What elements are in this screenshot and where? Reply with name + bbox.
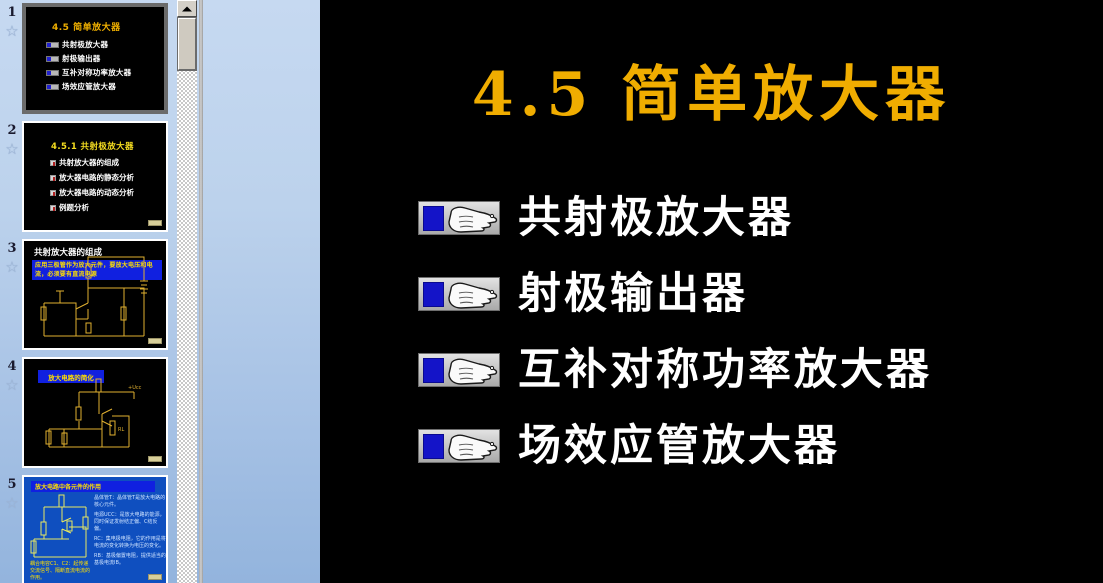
thumbnail-frame-2[interactable]: 4.5.1 共射极放大器 共射放大器的组成 放大器电路的静态分析 放大器电路的动… xyxy=(22,121,168,232)
thumbnail-pane-scrollbar[interactable] xyxy=(177,0,197,583)
thumb5-left-note: 耦合电容C1、C2：起传递交流信号、隔断直流电流的作用。 xyxy=(30,561,90,582)
slide-thumbnail-pane[interactable]: 1 ☆ 4.5 简单放大器 共射极放大器 射极输出器 互补对称功率放大器 场效应… xyxy=(0,0,320,583)
slide-number-2: 2 xyxy=(3,124,21,137)
bullet-label: 互补对称功率放大器 xyxy=(518,349,932,392)
pointing-hand-icon xyxy=(418,429,500,463)
thumb5-notes: 晶体管T：晶体管T是放大电路的核心元件。 电源UCC：是放大电路的能源，同时保证… xyxy=(94,495,166,570)
thumb5-banner-text: 放大电路中各元件的作用 xyxy=(35,482,101,491)
thumb4-banner-text: 放大电路的简化 xyxy=(48,372,94,382)
pointing-hand-icon xyxy=(46,56,59,62)
presentation-window: 1 ☆ 4.5 简单放大器 共射极放大器 射极输出器 互补对称功率放大器 场效应… xyxy=(0,0,1103,583)
pointing-hand-icon xyxy=(46,70,59,76)
square-bullet-icon xyxy=(50,205,56,211)
scroll-up-button[interactable] xyxy=(177,0,197,17)
pointing-hand-icon xyxy=(46,42,59,48)
pointing-hand-icon xyxy=(418,353,500,387)
note-line: 耦合电容C1、C2：起传递交流信号、隔断直流电流的作用。 xyxy=(30,561,90,582)
bullet-label: 共射极放大器 xyxy=(518,197,794,240)
chevron-up-icon xyxy=(182,6,192,11)
blue-square-glyph xyxy=(423,206,444,231)
star-icon: ☆ xyxy=(2,258,22,276)
thumbnail-item-3[interactable]: 3 ☆ 共射放大器的组成 应用三极管作为放大元件，要放大电压和电流，必须要有直流… xyxy=(0,236,172,354)
thumbnail-frame-5[interactable]: 放大电路中各元件的作用 xyxy=(22,475,168,583)
pointing-hand-icon xyxy=(46,84,59,90)
thumbnail-frame-3[interactable]: 共射放大器的组成 应用三极管作为放大元件，要放大电压和电流，必须要有直流电源 xyxy=(22,239,168,350)
thumbnail-item-5[interactable]: 5 ☆ 放大电路中各元件的作用 xyxy=(0,472,172,583)
square-bullet-icon xyxy=(50,190,56,196)
thumbnail-frame-1[interactable]: 4.5 简单放大器 共射极放大器 射极输出器 互补对称功率放大器 场效应管放大器 xyxy=(22,3,168,114)
thumbnail-canvas-4: 放大电路的简化 +Ucc xyxy=(24,359,166,466)
thumb2-bullet-label: 放大器电路的静态分析 xyxy=(59,172,134,183)
thumbnail-canvas-3: 共射放大器的组成 应用三极管作为放大元件，要放大电压和电流，必须要有直流电源 xyxy=(24,241,166,348)
scrollbar-track[interactable] xyxy=(177,0,197,583)
navigation-badge xyxy=(148,338,162,344)
star-icon: ☆ xyxy=(2,494,22,512)
thumb1-bullet-label: 场效应管放大器 xyxy=(62,81,116,92)
thumb3-title: 共射放大器的组成 xyxy=(34,246,102,258)
thumb5-banner: 放大电路中各元件的作用 xyxy=(31,481,155,492)
thumb4-banner: 放大电路的简化 xyxy=(38,370,104,383)
thumbnail-item-2[interactable]: 2 ☆ 4.5.1 共射极放大器 共射放大器的组成 放大器电路的静态分析 放大器… xyxy=(0,118,172,236)
note-line: RC：集电极电阻，它的作用是将电流的变化转换为电压的变化。 xyxy=(94,536,166,550)
square-bullet-icon xyxy=(50,160,56,166)
note-line: RB：基极偏置电阻，提供适当的基极电流IB。 xyxy=(94,553,166,567)
slide-number-1: 1 xyxy=(3,6,21,19)
bullet-label: 射极输出器 xyxy=(518,273,748,316)
navigation-badge xyxy=(148,574,162,580)
thumb2-bullet-label: 例题分析 xyxy=(59,202,89,213)
slide-title: 4.5 简单放大器 xyxy=(320,46,1103,133)
note-line: 电源UCC：是放大电路的能源，同时保证发射结正偏、C结反偏。 xyxy=(94,512,166,533)
bullet-row-2[interactable]: 射极输出器 xyxy=(418,266,1098,322)
thumb2-bullets: 共射放大器的组成 放大器电路的静态分析 放大器电路的动态分析 例题分析 xyxy=(50,157,134,217)
thumb1-bullet-label: 射极输出器 xyxy=(62,53,101,64)
list-item: 放大器电路的静态分析 xyxy=(50,172,134,183)
thumb3-banner-text: 应用三极管作为放大元件，要放大电压和电流，必须要有直流电源 xyxy=(35,261,159,279)
thumbnail-canvas-5: 放大电路中各元件的作用 xyxy=(24,477,166,583)
list-item: 放大器电路的动态分析 xyxy=(50,187,134,198)
list-item: 射极输出器 xyxy=(46,53,131,64)
navigation-badge xyxy=(148,456,162,462)
thumb3-banner: 应用三极管作为放大元件，要放大电压和电流，必须要有直流电源 xyxy=(32,260,162,280)
star-icon: ☆ xyxy=(2,140,22,158)
svg-text:RL: RL xyxy=(118,427,124,433)
slide-canvas[interactable]: 4.5 简单放大器 共射极放大器 xyxy=(320,0,1103,583)
bullet-row-3[interactable]: 互补对称功率放大器 xyxy=(418,342,1098,398)
thumbnail-canvas-1: 4.5 简单放大器 共射极放大器 射极输出器 互补对称功率放大器 场效应管放大器 xyxy=(26,7,164,110)
bullet-row-1[interactable]: 共射极放大器 xyxy=(418,190,1098,246)
thumb1-title: 4.5 简单放大器 xyxy=(52,20,121,33)
pointing-hand-icon xyxy=(418,201,500,235)
scrollbar-thumb[interactable] xyxy=(178,18,196,70)
note-line: 晶体管T：晶体管T是放大电路的核心元件。 xyxy=(94,495,166,509)
thumbnail-item-4[interactable]: 4 ☆ 放大电路的简化 xyxy=(0,354,172,472)
slide-number-5: 5 xyxy=(3,478,21,491)
list-item: 互补对称功率放大器 xyxy=(46,67,131,78)
navigation-badge xyxy=(148,220,162,226)
list-item: 共射放大器的组成 xyxy=(50,157,134,168)
list-item: 场效应管放大器 xyxy=(46,81,131,92)
slide-number-3: 3 xyxy=(3,242,21,255)
bullet-label: 场效应管放大器 xyxy=(518,425,840,468)
slide-bullet-list: 共射极放大器 射极输出器 xyxy=(418,190,1098,494)
thumb2-title: 4.5.1 共射极放大器 xyxy=(51,140,134,152)
blue-square-glyph xyxy=(423,434,444,459)
thumb1-bullet-label: 互补对称功率放大器 xyxy=(62,67,131,78)
thumbnail-item-1[interactable]: 1 ☆ 4.5 简单放大器 共射极放大器 射极输出器 互补对称功率放大器 场效应… xyxy=(0,0,172,118)
thumb1-bullet-label: 共射极放大器 xyxy=(62,39,108,50)
thumb1-bullets: 共射极放大器 射极输出器 互补对称功率放大器 场效应管放大器 xyxy=(46,39,131,95)
pointing-hand-icon xyxy=(418,277,500,311)
slide-number-4: 4 xyxy=(3,360,21,373)
thumb2-bullet-label: 共射放大器的组成 xyxy=(59,157,119,168)
square-bullet-icon xyxy=(50,175,56,181)
pane-splitter[interactable] xyxy=(199,0,203,583)
star-icon: ☆ xyxy=(2,376,22,394)
thumb2-bullet-label: 放大器电路的动态分析 xyxy=(59,187,134,198)
list-item: 共射极放大器 xyxy=(46,39,131,50)
blue-square-glyph xyxy=(423,358,444,383)
star-icon: ☆ xyxy=(2,22,22,40)
blue-square-glyph xyxy=(423,282,444,307)
thumbnail-frame-4[interactable]: 放大电路的简化 +Ucc xyxy=(22,357,168,468)
list-item: 例题分析 xyxy=(50,202,134,213)
thumbnail-canvas-2: 4.5.1 共射极放大器 共射放大器的组成 放大器电路的静态分析 放大器电路的动… xyxy=(24,123,166,230)
bullet-row-4[interactable]: 场效应管放大器 xyxy=(418,418,1098,474)
thumbnail-list[interactable]: 1 ☆ 4.5 简单放大器 共射极放大器 射极输出器 互补对称功率放大器 场效应… xyxy=(0,0,172,583)
svg-text:+Ucc: +Ucc xyxy=(128,385,142,391)
